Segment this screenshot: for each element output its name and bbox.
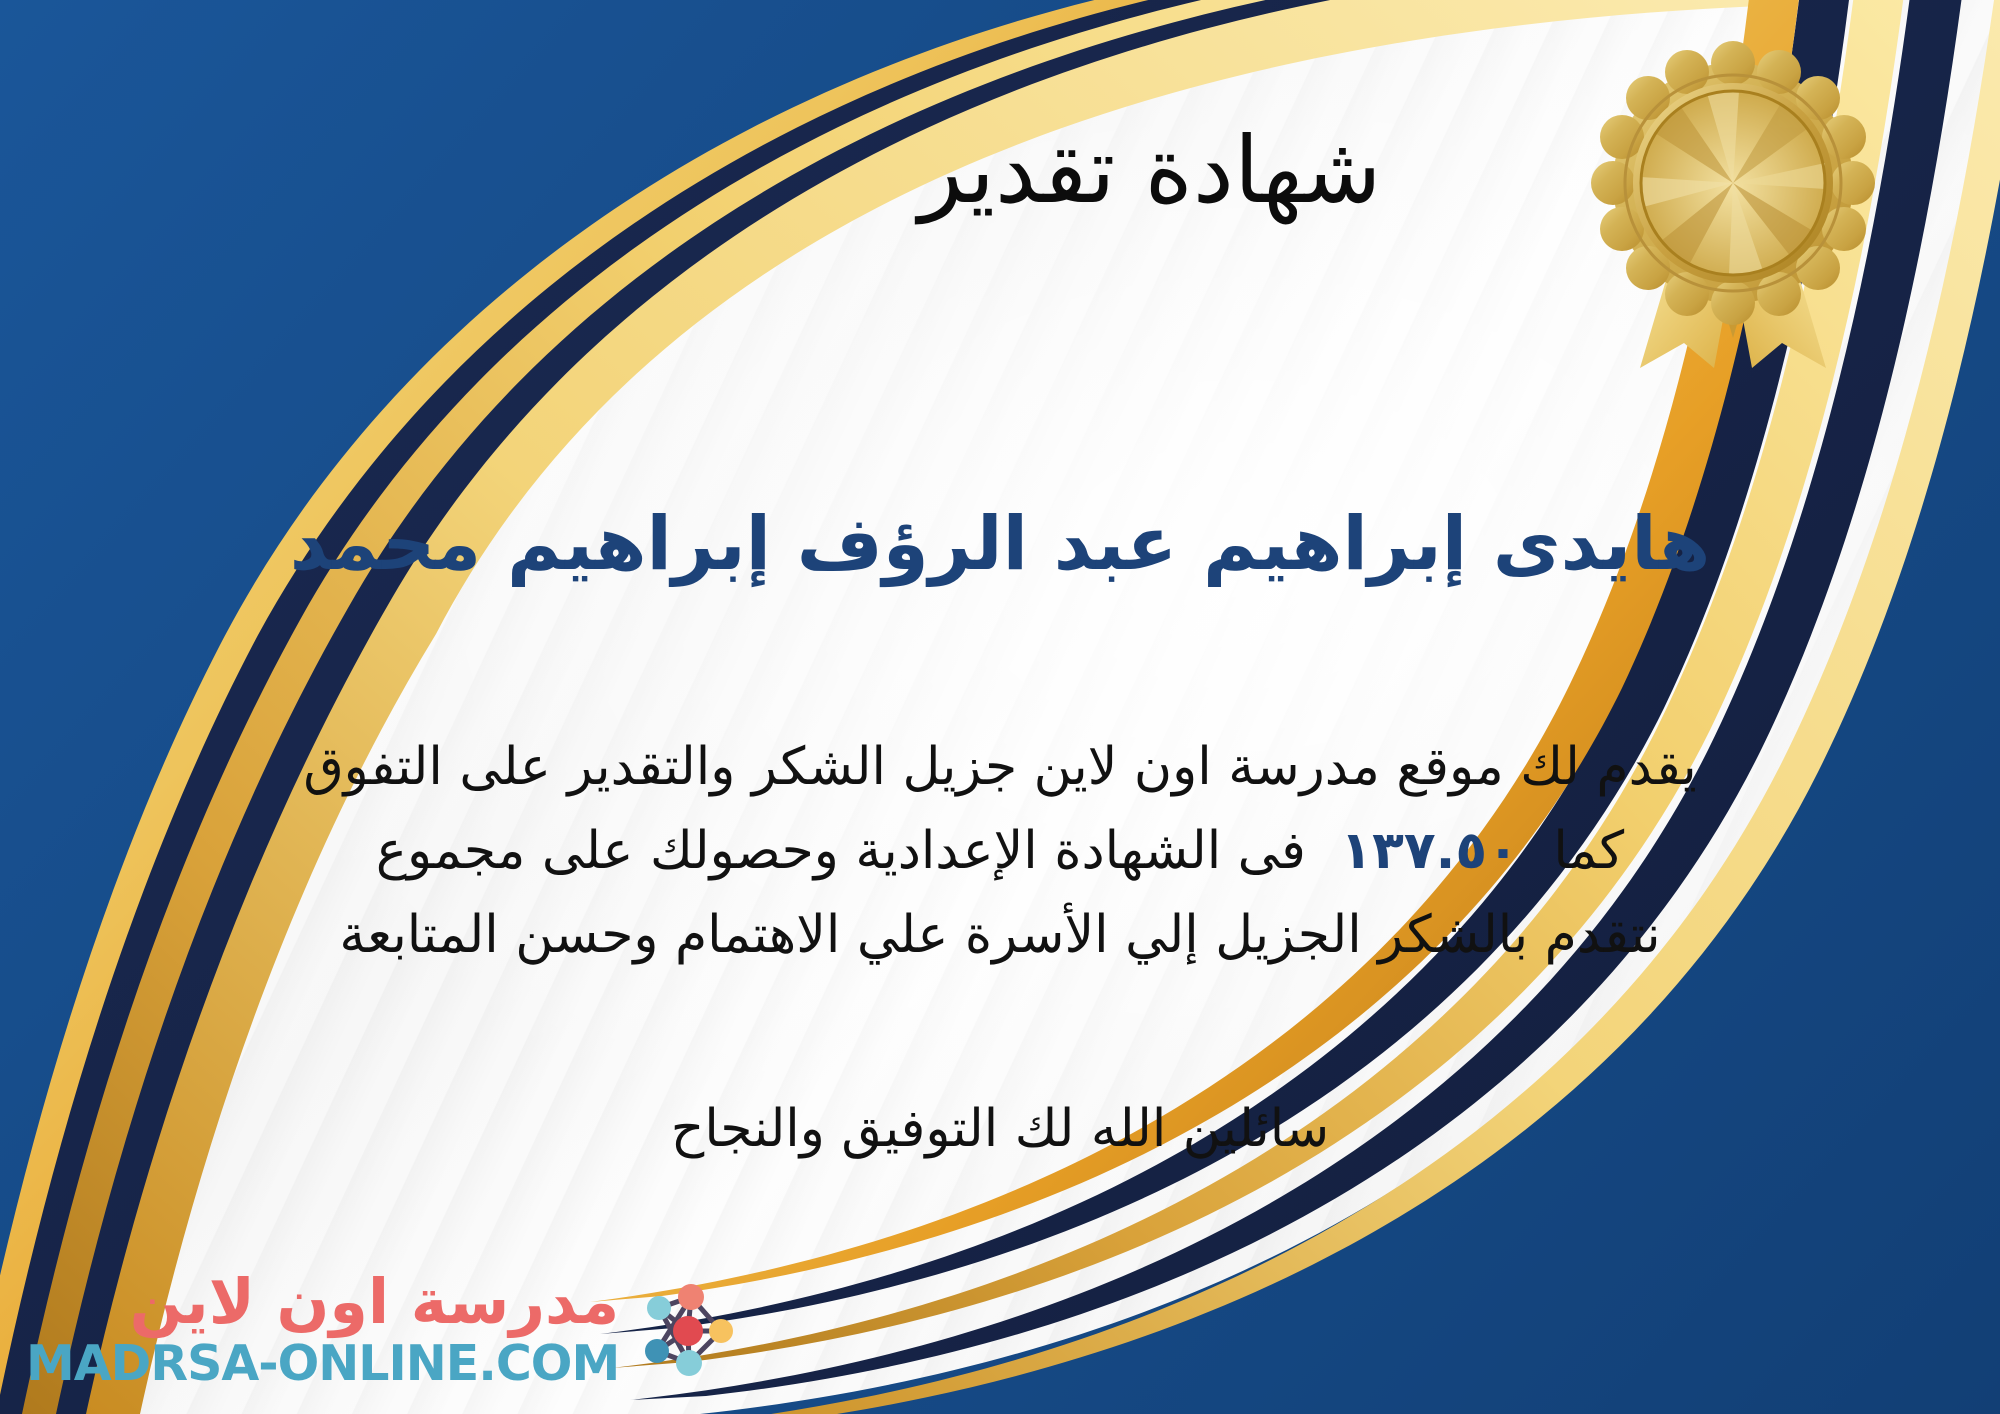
brand-logo[interactable]: مدرسة اون لاين MADRSA-ONLINE.COM bbox=[26, 1271, 743, 1388]
certificate-page: شهادة تقدير هايدى إبراهيم عبد الرؤف إبرا… bbox=[0, 0, 2000, 1414]
network-nodes-icon bbox=[633, 1275, 743, 1385]
body-line-2-head: فى الشهادة الإعدادية وحصولك على مجموع bbox=[376, 821, 1306, 881]
certificate-content: شهادة تقدير هايدى إبراهيم عبد الرؤف إبرا… bbox=[0, 0, 2000, 1414]
logo-website-url: MADRSA-ONLINE.COM bbox=[26, 1339, 619, 1388]
closing-line: سائلين الله لك التوفيق والنجاح bbox=[0, 1090, 2000, 1168]
body-line-2-tail: كما bbox=[1553, 821, 1624, 881]
score-value: ١٣٧.٥٠ bbox=[1322, 821, 1536, 881]
certificate-body: يقدم لك موقع مدرسة اون لاين جزيل الشكر و… bbox=[0, 725, 2000, 978]
body-line-2: كما ١٣٧.٥٠ فى الشهادة الإعدادية وحصولك ع… bbox=[230, 809, 1770, 893]
logo-arabic-name: مدرسة اون لاين bbox=[130, 1271, 620, 1333]
logo-text-group: مدرسة اون لاين MADRSA-ONLINE.COM bbox=[26, 1271, 619, 1388]
recipient-name: هايدى إبراهيم عبد الرؤف إبراهيم محمد bbox=[0, 500, 2000, 589]
body-line-3: نتقدم بالشكر الجزيل إلي الأسرة علي الاهت… bbox=[230, 893, 1770, 977]
body-line-1: يقدم لك موقع مدرسة اون لاين جزيل الشكر و… bbox=[230, 725, 1770, 809]
page-title: شهادة تقدير bbox=[0, 118, 2000, 224]
